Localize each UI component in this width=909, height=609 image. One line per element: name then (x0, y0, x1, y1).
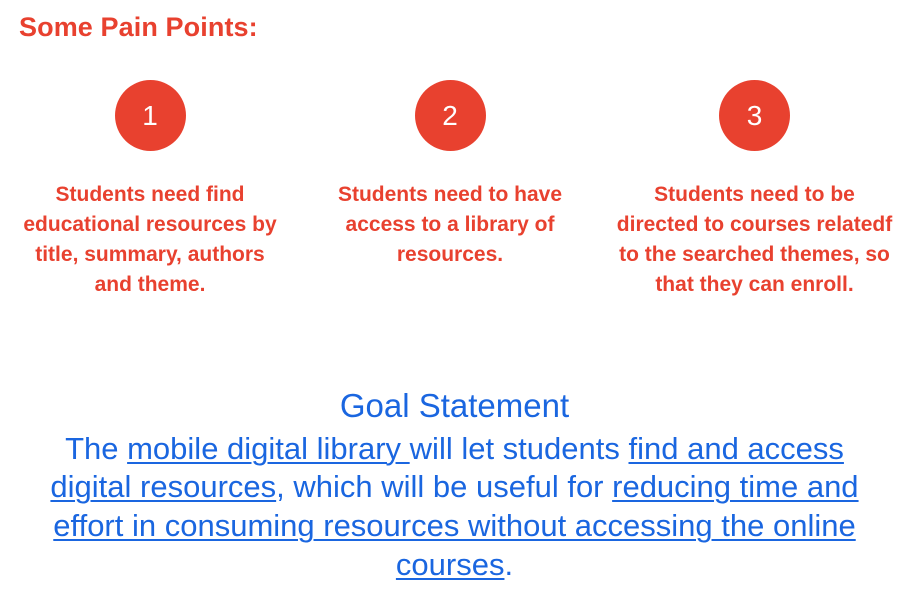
goal-segment-4: , which will be useful for (276, 469, 612, 504)
pain-point-number-badge-1: 1 (115, 80, 186, 151)
pain-point-text-2: Students need to have access to a librar… (322, 180, 578, 270)
goal-statement-block: Goal Statement The mobile digital librar… (0, 386, 909, 585)
pain-point-card-2: 2 Students need to have access to a libr… (300, 80, 600, 270)
pain-points-row: 1 Students need find educational resourc… (0, 80, 909, 300)
goal-segment-2: will let students (410, 431, 629, 466)
pain-point-card-1: 1 Students need find educational resourc… (0, 80, 300, 300)
page-title: Some Pain Points: (19, 11, 258, 43)
goal-segment-6: . (504, 547, 513, 582)
goal-statement-body: The mobile digital library will let stud… (0, 430, 909, 585)
pain-point-card-3: 3 Students need to be directed to course… (600, 80, 909, 300)
slide-canvas: Some Pain Points: 1 Students need find e… (0, 0, 909, 609)
goal-segment-0: The (65, 431, 127, 466)
pain-point-text-3: Students need to be directed to courses … (616, 180, 893, 300)
pain-point-text-1: Students need find educational resources… (20, 180, 280, 300)
goal-statement-heading: Goal Statement (0, 386, 909, 426)
pain-point-number-badge-2: 2 (415, 80, 486, 151)
goal-segment-1: mobile digital library (127, 431, 410, 466)
pain-point-number-badge-3: 3 (719, 80, 790, 151)
